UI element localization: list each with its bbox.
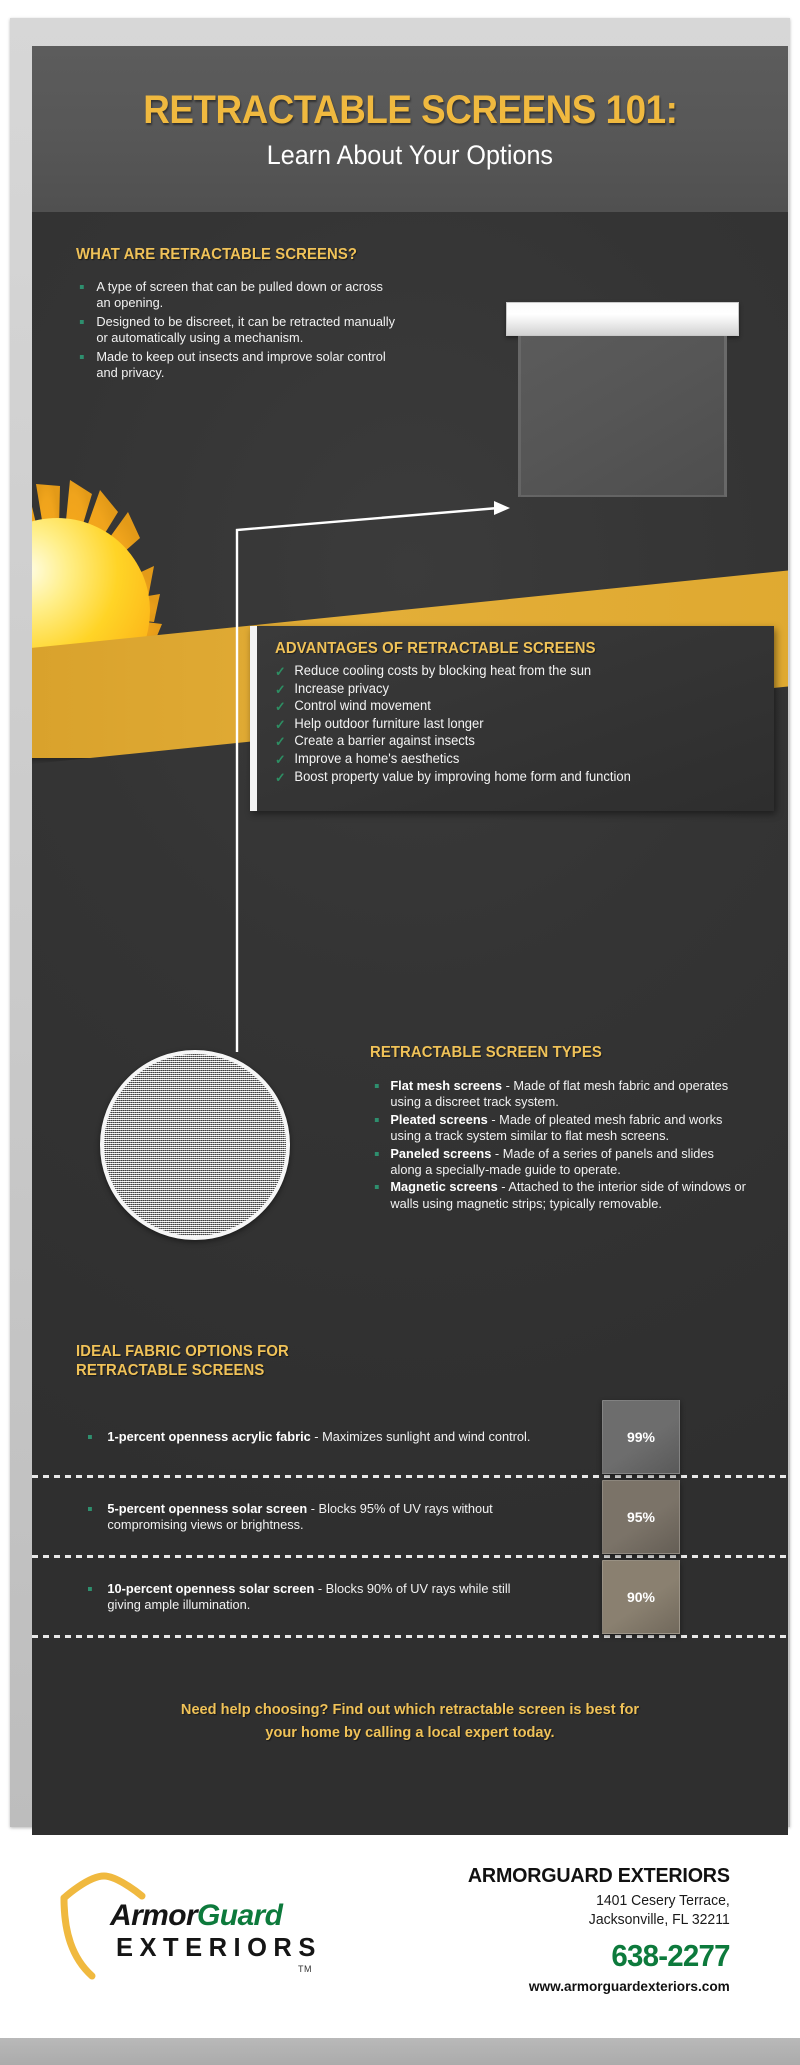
- poster-body: RETRACTABLE SCREENS 101: Learn About You…: [32, 46, 788, 1835]
- page-title: RETRACTABLE SCREENS 101:: [143, 88, 677, 133]
- list-item: Made to keep out insects and improve sol…: [76, 349, 396, 380]
- list-item: ✓Control wind movement: [275, 697, 749, 715]
- fabric-swatch: 90%: [602, 1560, 680, 1634]
- list-item-label: Increase privacy: [294, 681, 389, 696]
- list-item-label: Help outdoor furniture last longer: [294, 716, 483, 731]
- logo-word-armor: Armor: [110, 1899, 197, 1932]
- check-icon: ✓: [275, 769, 286, 787]
- list-item: ✓Boost property value by improving home …: [275, 768, 749, 786]
- fabric-heading-line-1: IDEAL FABRIC OPTIONS FOR: [76, 1342, 717, 1361]
- list-item: A type of screen that can be pulled down…: [76, 279, 396, 310]
- list-item: ✓Help outdoor furniture last longer: [275, 715, 749, 733]
- list-item: Pleated screens - Made of pleated mesh f…: [370, 1112, 748, 1145]
- divider: [32, 1635, 788, 1638]
- screen-types-list: Flat mesh screens - Made of flat mesh fa…: [370, 1078, 760, 1212]
- list-item: Paneled screens - Made of a series of pa…: [370, 1146, 748, 1179]
- footer-bottom-bar: [0, 2038, 800, 2065]
- table-row: 5-percent openness solar screen - Blocks…: [32, 1478, 788, 1555]
- infographic-page: RETRACTABLE SCREENS 101: Learn About You…: [0, 0, 800, 2065]
- logo-wordmark: ArmorGuard: [110, 1899, 282, 1933]
- advantages-heading: ADVANTAGES OF RETRACTABLE SCREENS: [275, 640, 744, 658]
- address-line-2: Jacksonville, FL 32211: [468, 1911, 730, 1930]
- table-row: 1-percent openness acrylic fabric - Maxi…: [32, 1398, 788, 1475]
- what-are-bullet-list: A type of screen that can be pulled down…: [76, 279, 406, 380]
- website-url[interactable]: www.armorguardexteriors.com: [468, 1979, 730, 1995]
- fabric-heading-line-2: RETRACTABLE SCREENS: [76, 1361, 717, 1380]
- list-item-label: Improve a home's aesthetics: [294, 751, 459, 766]
- cta-line-2: your home by calling a local expert toda…: [90, 1722, 730, 1745]
- fabric-row-text: 1-percent openness acrylic fabric - Maxi…: [88, 1429, 534, 1445]
- logo-word-guard: Guard: [197, 1899, 282, 1932]
- company-logo: ArmorGuard EXTERIORS TM: [58, 1872, 338, 1982]
- fabric-term: 1-percent openness acrylic fabric: [107, 1429, 310, 1444]
- fabric-options-rows: 1-percent openness acrylic fabric - Maxi…: [32, 1398, 788, 1638]
- screen-mesh-panel: [518, 336, 727, 497]
- list-item-label: Control wind movement: [294, 698, 430, 713]
- list-item-label: Reduce cooling costs by blocking heat fr…: [294, 663, 591, 678]
- check-icon: ✓: [275, 681, 286, 699]
- screen-housing: [506, 302, 739, 336]
- contact-block: ARMORGUARD EXTERIORS 1401 Cesery Terrace…: [457, 1864, 730, 1995]
- company-name: ARMORGUARD EXTERIORS: [468, 1864, 730, 1888]
- mesh-fabric-swatch-circle: [100, 1050, 290, 1240]
- check-icon: ✓: [275, 663, 286, 681]
- company-address: 1401 Cesery Terrace, Jacksonville, FL 32…: [468, 1892, 730, 1930]
- list-item: ✓Create a barrier against insects: [275, 732, 749, 750]
- advantages-panel: ADVANTAGES OF RETRACTABLE SCREENS ✓Reduc…: [250, 626, 774, 811]
- check-icon: ✓: [275, 751, 286, 769]
- phone-number[interactable]: 638-2277: [471, 1938, 730, 1974]
- address-line-1: 1401 Cesery Terrace,: [468, 1892, 730, 1911]
- call-to-action: Need help choosing? Find out which retra…: [90, 1699, 730, 1745]
- fabric-options-heading: IDEAL FABRIC OPTIONS FOR RETRACTABLE SCR…: [76, 1342, 717, 1380]
- list-item: ✓Reduce cooling costs by blocking heat f…: [275, 662, 749, 680]
- list-item: ✓Increase privacy: [275, 680, 749, 698]
- list-item-term: Paneled screens: [390, 1146, 491, 1161]
- trademark-symbol: TM: [298, 1964, 312, 1974]
- list-item-term: Pleated screens: [390, 1112, 487, 1127]
- check-icon: ✓: [275, 716, 286, 734]
- fabric-swatch: 95%: [602, 1480, 680, 1554]
- list-item: Flat mesh screens - Made of flat mesh fa…: [370, 1078, 748, 1111]
- section-fabric-options: IDEAL FABRIC OPTIONS FOR RETRACTABLE SCR…: [76, 1342, 744, 1380]
- advantages-list: ✓Reduce cooling costs by blocking heat f…: [275, 662, 764, 785]
- cta-line-1: Need help choosing? Find out which retra…: [90, 1699, 730, 1722]
- check-icon: ✓: [275, 698, 286, 716]
- list-item: ✓Improve a home's aesthetics: [275, 750, 749, 768]
- header-band: RETRACTABLE SCREENS 101: Learn About You…: [32, 46, 788, 212]
- what-are-heading: WHAT ARE RETRACTABLE SCREENS?: [76, 246, 393, 264]
- check-icon: ✓: [275, 733, 286, 751]
- fabric-swatch: 99%: [602, 1400, 680, 1474]
- retractable-screen-image: [515, 302, 730, 497]
- list-item-term: Flat mesh screens: [390, 1078, 502, 1093]
- section-what-are-retractable-screens: WHAT ARE RETRACTABLE SCREENS? A type of …: [76, 246, 406, 384]
- logo-word-exteriors: EXTERIORS: [116, 1934, 322, 1963]
- fabric-term: 10-percent openness solar screen: [107, 1581, 314, 1596]
- list-item-label: Boost property value by improving home f…: [294, 769, 630, 784]
- table-row: 10-percent openness solar screen - Block…: [32, 1558, 788, 1635]
- page-subtitle: Learn About Your Options: [267, 140, 553, 171]
- list-item-term: Magnetic screens: [390, 1179, 497, 1194]
- list-item: Magnetic screens - Attached to the inter…: [370, 1179, 748, 1212]
- poster-frame: RETRACTABLE SCREENS 101: Learn About You…: [10, 18, 790, 1827]
- list-item-label: Create a barrier against insects: [294, 733, 474, 748]
- fabric-row-text: 10-percent openness solar screen - Block…: [88, 1581, 534, 1613]
- fabric-term: 5-percent openness solar screen: [107, 1501, 307, 1516]
- screen-types-heading: RETRACTABLE SCREEN TYPES: [370, 1044, 744, 1062]
- footer: ArmorGuard EXTERIORS TM ARMORGUARD EXTER…: [0, 1836, 800, 2065]
- fabric-row-text: 5-percent openness solar screen - Blocks…: [88, 1501, 534, 1533]
- list-item: Designed to be discreet, it can be retra…: [76, 314, 396, 345]
- section-screen-types: RETRACTABLE SCREEN TYPES Flat mesh scree…: [370, 1044, 760, 1213]
- fabric-desc: - Maximizes sunlight and wind control.: [311, 1429, 531, 1444]
